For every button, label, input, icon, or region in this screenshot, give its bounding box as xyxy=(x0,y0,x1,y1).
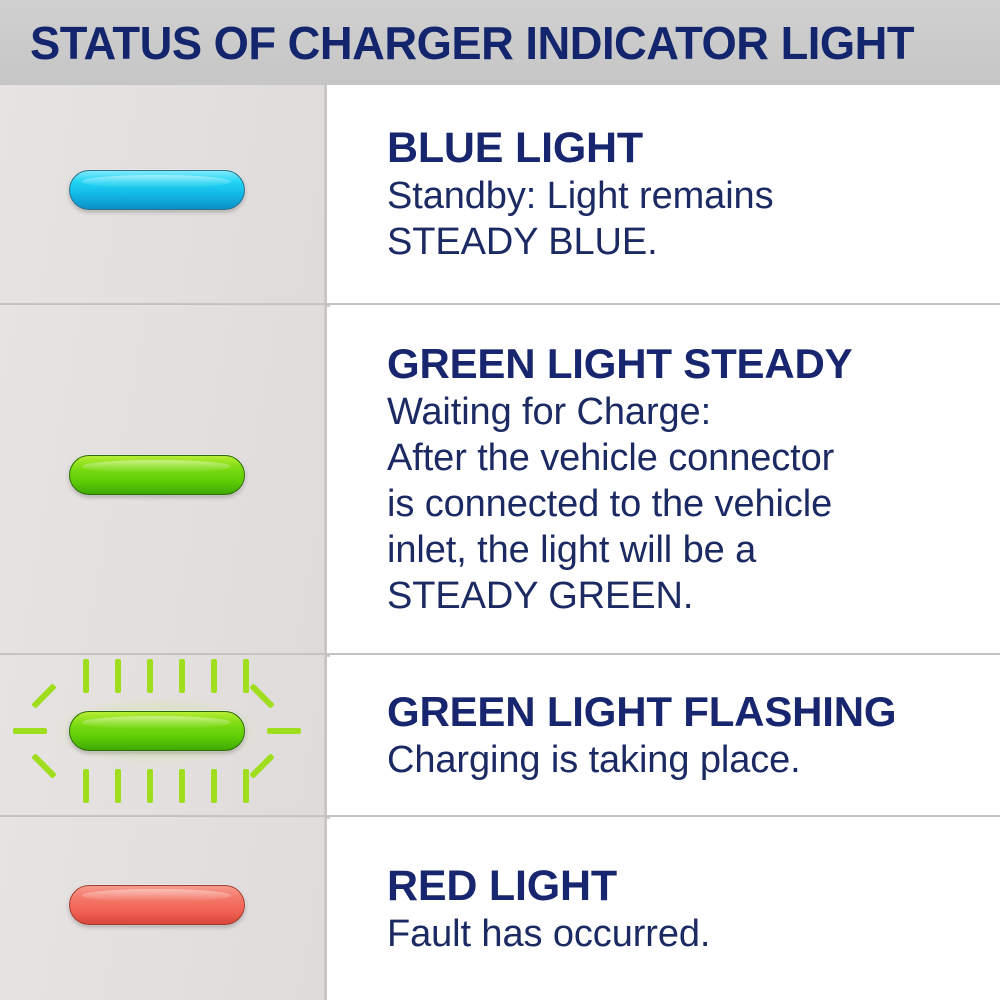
table-row: RED LIGHT Fault has occurred. xyxy=(0,817,1000,1000)
ray xyxy=(13,728,47,734)
led-wrapper xyxy=(69,711,259,759)
ray xyxy=(211,769,217,803)
led-cell-green-steady xyxy=(0,305,327,653)
ray xyxy=(243,769,249,803)
led-cell-blue xyxy=(0,85,327,303)
ray xyxy=(249,753,274,778)
table-row: GREEN LIGHT FLASHING Charging is taking … xyxy=(0,655,1000,815)
ray xyxy=(31,753,56,778)
led-cell-green-flashing xyxy=(0,655,327,815)
ray xyxy=(243,659,249,693)
text-cell-red: RED LIGHT Fault has occurred. xyxy=(330,817,1000,1000)
row-body: Standby: Light remains STEADY BLUE. xyxy=(387,173,986,265)
text-cell-blue: BLUE LIGHT Standby: Light remains STEADY… xyxy=(330,85,1000,303)
ray xyxy=(31,683,56,708)
row-body: Waiting for Charge: After the vehicle co… xyxy=(387,389,986,619)
ray xyxy=(147,769,153,803)
table-row: GREEN LIGHT STEADY Waiting for Charge: A… xyxy=(0,305,1000,653)
row-heading: GREEN LIGHT STEADY xyxy=(387,339,986,389)
ray xyxy=(249,683,274,708)
green-indicator-light-flashing-icon xyxy=(69,711,245,751)
ray xyxy=(179,659,185,693)
ray xyxy=(267,728,301,734)
page-title: STATUS OF CHARGER INDICATOR LIGHT xyxy=(30,20,914,66)
ray xyxy=(147,659,153,693)
led-wrapper xyxy=(69,170,259,218)
row-body: Charging is taking place. xyxy=(387,737,986,783)
blue-indicator-light-icon xyxy=(69,170,245,210)
row-heading: RED LIGHT xyxy=(387,861,986,911)
led-wrapper xyxy=(69,885,259,933)
green-indicator-light-icon xyxy=(69,455,245,495)
ray xyxy=(83,659,89,693)
row-body: Fault has occurred. xyxy=(387,911,986,957)
ray xyxy=(115,659,121,693)
row-heading: BLUE LIGHT xyxy=(387,123,986,173)
ray xyxy=(211,659,217,693)
red-indicator-light-icon xyxy=(69,885,245,925)
table-row: BLUE LIGHT Standby: Light remains STEADY… xyxy=(0,85,1000,303)
led-wrapper xyxy=(69,455,259,503)
text-cell-green-flashing: GREEN LIGHT FLASHING Charging is taking … xyxy=(330,655,1000,815)
ray xyxy=(179,769,185,803)
row-heading: GREEN LIGHT FLASHING xyxy=(387,687,986,737)
ray xyxy=(83,769,89,803)
header-banner: STATUS OF CHARGER INDICATOR LIGHT xyxy=(0,0,1000,85)
status-table: BLUE LIGHT Standby: Light remains STEADY… xyxy=(0,85,1000,1000)
led-cell-red xyxy=(0,817,327,1000)
text-cell-green-steady: GREEN LIGHT STEADY Waiting for Charge: A… xyxy=(330,305,1000,653)
infographic-page: STATUS OF CHARGER INDICATOR LIGHT BLUE L… xyxy=(0,0,1000,1000)
ray xyxy=(115,769,121,803)
